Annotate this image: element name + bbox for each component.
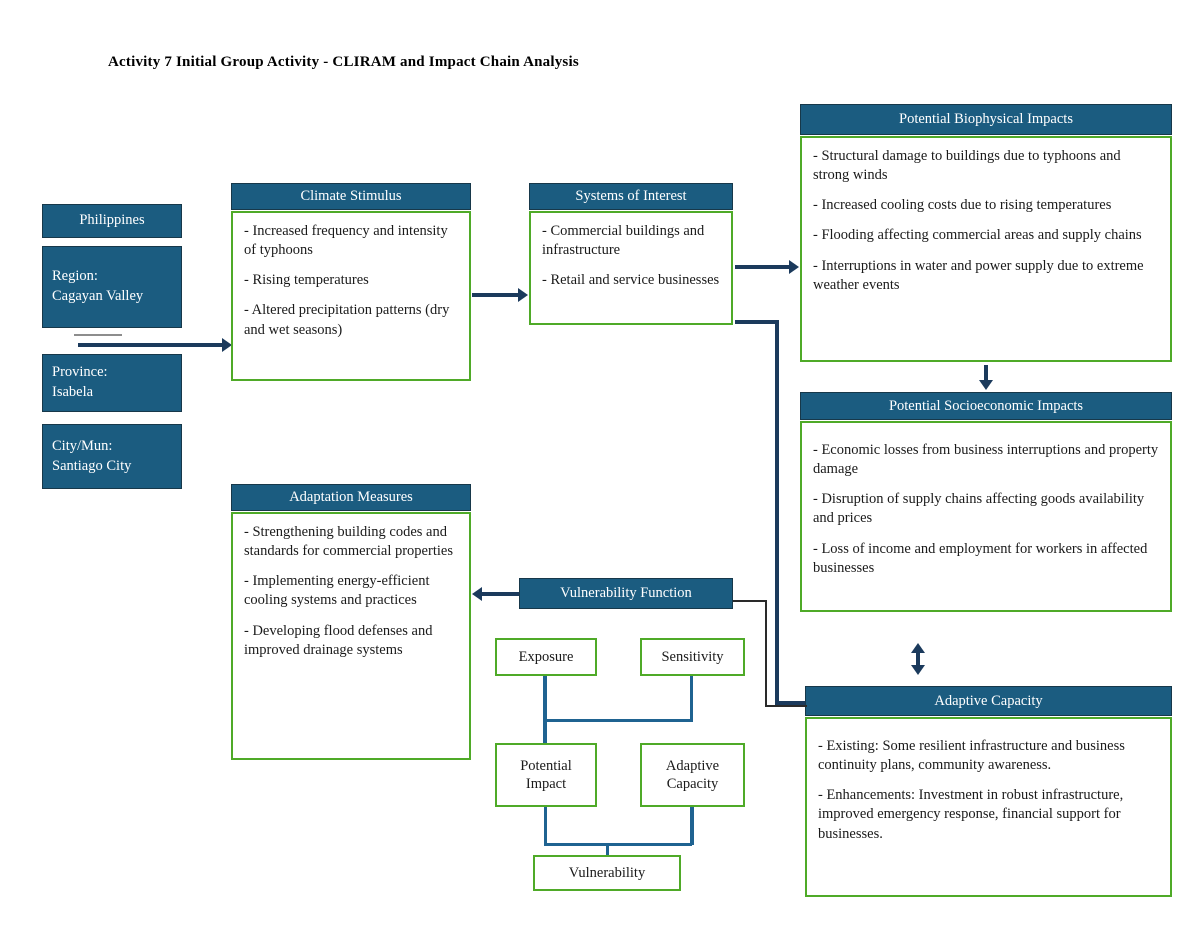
adaptive-capacity-header[interactable]: Adaptive Capacity [805, 686, 1172, 716]
location-box-province[interactable]: Province: Isabela [42, 354, 182, 412]
connector-exposure-sensitivity-join [543, 719, 693, 722]
connector-vf-to-adaptive-seg3 [765, 705, 807, 707]
location-box-region[interactable]: Region: Cagayan Valley [42, 246, 182, 328]
arrowhead-biophysical-to-socioeconomic-icon [979, 380, 993, 390]
adaptation-measures-body: - Strengthening building codes and stand… [231, 512, 471, 760]
location-box-country[interactable]: Philippines [42, 204, 182, 238]
systems-of-interest-item-0: - Commercial buildings and infrastructur… [542, 222, 720, 260]
connector-potential-impact-down [544, 807, 547, 845]
socioeconomic-impacts-body: - Economic losses from business interrup… [800, 421, 1172, 612]
socioeconomic-impacts-header[interactable]: Potential Socioeconomic Impacts [800, 392, 1172, 420]
arrowhead-climate-to-systems-icon [518, 288, 528, 302]
vulnerability-function-header[interactable]: Vulnerability Function [519, 578, 733, 609]
biophysical-impacts-item-0: - Structural damage to buildings due to … [813, 147, 1159, 185]
page-title: Activity 7 Initial Group Activity - CLIR… [108, 54, 579, 71]
climate-stimulus-item-2: - Altered precipitation patterns (dry an… [244, 301, 458, 339]
node-sensitivity[interactable]: Sensitivity [640, 638, 745, 676]
connector-vf-to-adaptation [482, 592, 520, 596]
arrowhead-systems-to-biophysical-icon [789, 260, 799, 274]
gray-tick-line [74, 334, 122, 336]
connector-systems-to-adaptive-seg1 [735, 320, 779, 324]
climate-stimulus-body: - Increased frequency and intensity of t… [231, 211, 471, 381]
systems-of-interest-header[interactable]: Systems of Interest [529, 183, 733, 210]
location-box-city[interactable]: City/Mun: Santiago City [42, 424, 182, 489]
arrowhead-vf-to-adaptation-icon [472, 587, 482, 601]
systems-of-interest-item-1: - Retail and service businesses [542, 271, 720, 290]
connector-sensitivity-down [690, 676, 693, 721]
connector-vf-to-adaptive-seg1 [733, 600, 767, 602]
adaptation-measures-item-0: - Strengthening building codes and stand… [244, 523, 458, 561]
connector-adaptive-capacity-down [690, 807, 694, 845]
connector-systems-to-adaptive-seg2 [775, 320, 779, 705]
connector-vf-to-adaptive-seg2 [765, 600, 767, 707]
connector-climate-to-systems [472, 293, 522, 297]
systems-of-interest-body: - Commercial buildings and infrastructur… [529, 211, 733, 325]
adaptation-measures-header[interactable]: Adaptation Measures [231, 484, 471, 511]
adaptive-capacity-body: - Existing: Some resilient infrastructur… [805, 717, 1172, 897]
socioeconomic-impacts-item-2: - Loss of income and employment for work… [813, 540, 1159, 578]
connector-systems-to-biophysical [735, 265, 793, 269]
socioeconomic-impacts-item-1: - Disruption of supply chains affecting … [813, 490, 1159, 528]
biophysical-impacts-item-1: - Increased cooling costs due to rising … [813, 196, 1159, 215]
biophysical-impacts-item-3: - Interruptions in water and power suppl… [813, 257, 1159, 295]
adaptation-measures-item-2: - Developing flood defenses and improved… [244, 622, 458, 660]
node-exposure[interactable]: Exposure [495, 638, 597, 676]
arrowhead-adaptive-down-icon [911, 665, 925, 675]
adaptation-measures-item-1: - Implementing energy-efficient cooling … [244, 572, 458, 610]
node-adaptive-capacity[interactable]: Adaptive Capacity [640, 743, 745, 807]
connector-impact-capacity-join [544, 843, 692, 846]
node-potential-impact[interactable]: Potential Impact [495, 743, 597, 807]
biophysical-impacts-header[interactable]: Potential Biophysical Impacts [800, 104, 1172, 135]
adaptive-capacity-item-0: - Existing: Some resilient infrastructur… [818, 737, 1159, 775]
adaptive-capacity-item-1: - Enhancements: Investment in robust inf… [818, 786, 1159, 843]
climate-stimulus-item-1: - Rising temperatures [244, 271, 458, 290]
node-vulnerability[interactable]: Vulnerability [533, 855, 681, 891]
biophysical-impacts-body: - Structural damage to buildings due to … [800, 136, 1172, 362]
climate-stimulus-item-0: - Increased frequency and intensity of t… [244, 222, 458, 260]
connector-location-to-climate [78, 343, 226, 347]
socioeconomic-impacts-item-0: - Economic losses from business interrup… [813, 441, 1159, 479]
diagram-canvas: Activity 7 Initial Group Activity - CLIR… [0, 0, 1200, 927]
biophysical-impacts-item-2: - Flooding affecting commercial areas an… [813, 226, 1159, 245]
climate-stimulus-header[interactable]: Climate Stimulus [231, 183, 471, 210]
